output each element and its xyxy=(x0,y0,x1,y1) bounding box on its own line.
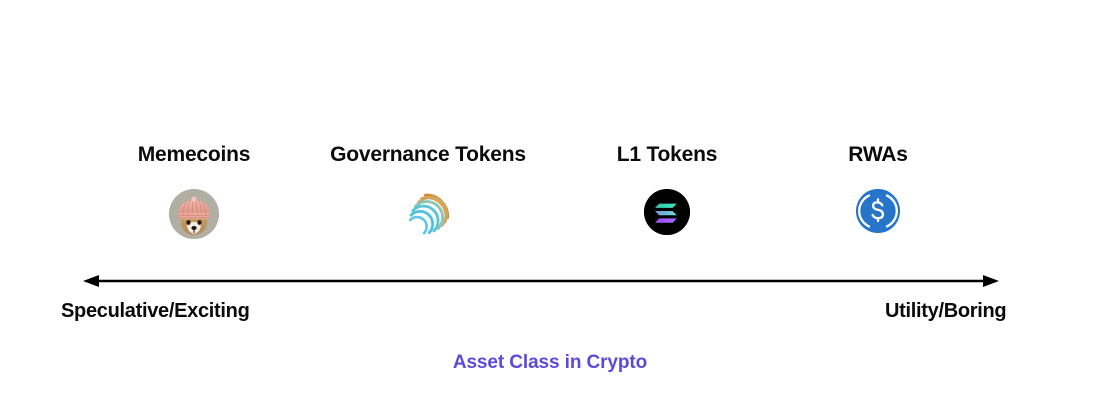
diagram-caption: Asset Class in Crypto xyxy=(0,352,1100,374)
spectrum-item-label: RWAs xyxy=(728,143,1028,167)
dogwifhat-wif-token-icon-art xyxy=(169,189,219,239)
spectrum-axis xyxy=(80,268,1002,294)
solana-sol-token-icon-art xyxy=(644,189,690,235)
usd-coin-usdc-token-icon-art xyxy=(856,189,900,233)
dogwifhat-wif-token-icon xyxy=(169,189,219,239)
asset-class-spectrum-diagram: Memecoins xyxy=(0,0,1100,411)
axis-left-end-label: Speculative/Exciting xyxy=(61,300,250,323)
curve-dao-crv-token-icon xyxy=(403,189,453,239)
double-arrow-icon xyxy=(80,268,1002,294)
solana-sol-token-icon xyxy=(642,189,692,239)
curve-dao-crv-token-icon-art xyxy=(403,189,453,239)
spectrum-item-rwas: RWAs xyxy=(728,143,1028,239)
usd-coin-usdc-token-icon xyxy=(853,189,903,239)
axis-right-end-label: Utility/Boring xyxy=(885,300,1006,323)
